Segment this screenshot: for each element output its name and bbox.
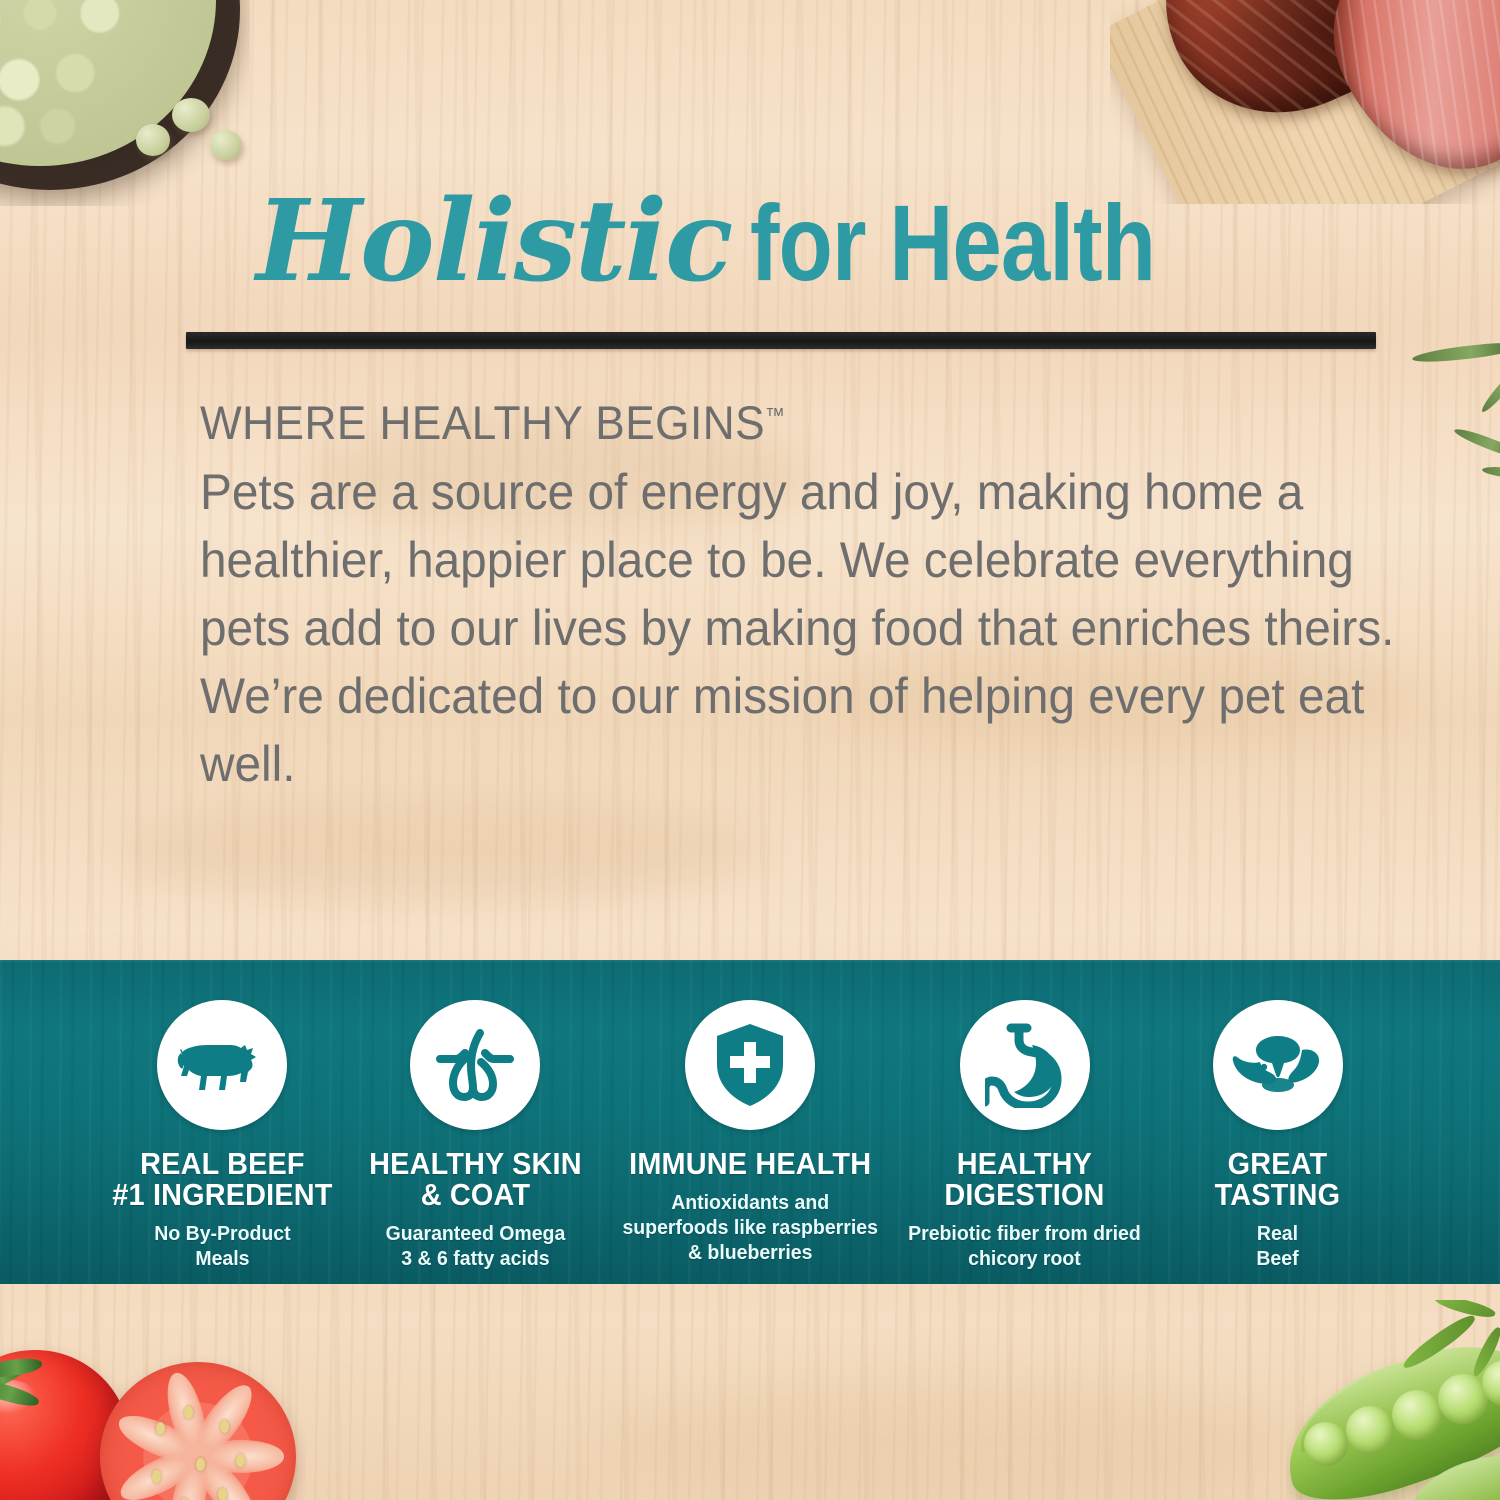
title-divider bbox=[186, 332, 1376, 349]
hair-follicle-icon bbox=[432, 1025, 518, 1105]
benefit-subtitle: Antioxidants and superfoods like raspber… bbox=[609, 1190, 891, 1265]
benefit-icon-circle bbox=[960, 1000, 1090, 1130]
benefit-healthy-digestion: HEALTHY DIGESTION Prebiotic fiber from d… bbox=[898, 1000, 1151, 1271]
tomatoes-photo bbox=[0, 1322, 306, 1500]
benefit-title: REAL BEEF #1 INGREDIENT bbox=[105, 1148, 340, 1210]
page-title: Holistic for Health bbox=[0, 176, 1500, 307]
benefit-subtitle: Prebiotic fiber from dried chicory root bbox=[905, 1221, 1145, 1271]
benefit-icon-circle bbox=[157, 1000, 287, 1130]
benefit-healthy-skin-coat: HEALTHY SKIN & COAT Guaranteed Omega 3 &… bbox=[349, 1000, 602, 1271]
benefit-immune-health: IMMUNE HEALTH Antioxidants and superfood… bbox=[602, 1000, 898, 1265]
title-block-word: for Health bbox=[750, 180, 1155, 305]
intro-copy: WHERE HEALTHY BEGINS™ Pets are a source … bbox=[200, 398, 1460, 798]
benefit-icon-circle bbox=[410, 1000, 540, 1130]
benefit-subtitle: Guaranteed Omega 3 & 6 fatty acids bbox=[355, 1221, 595, 1271]
open-pea-pod-photo bbox=[1286, 1300, 1500, 1500]
benefit-subtitle: No By-Product Meals bbox=[102, 1221, 342, 1271]
benefit-subtitle: Real Beef bbox=[1157, 1221, 1397, 1271]
shield-plus-icon bbox=[711, 1022, 789, 1108]
seared-beef-on-wooden-board-photo bbox=[1110, 0, 1500, 204]
benefit-icon-circle bbox=[1213, 1000, 1343, 1130]
copy-kicker: WHERE HEALTHY BEGINS™ bbox=[200, 398, 1384, 448]
halved-tomato bbox=[100, 1362, 296, 1500]
title-script-word: Holistic bbox=[256, 176, 731, 307]
benefit-title: IMMUNE HEALTH bbox=[612, 1148, 888, 1179]
promo-banner: Holistic for Health WHERE HEALTHY BEGINS… bbox=[0, 0, 1500, 1500]
benefit-great-tasting: GREAT TASTING Real Beef bbox=[1151, 1000, 1404, 1271]
copy-paragraph: Pets are a source of energy and joy, mak… bbox=[200, 458, 1403, 798]
benefit-real-beef: REAL BEEF #1 INGREDIENT No By-Product Me… bbox=[96, 1000, 349, 1271]
benefit-title: HEALTHY DIGESTION bbox=[907, 1148, 1142, 1210]
stomach-icon bbox=[985, 1022, 1065, 1108]
benefits-band: REAL BEEF #1 INGREDIENT No By-Product Me… bbox=[0, 960, 1500, 1284]
benefits-row: REAL BEEF #1 INGREDIENT No By-Product Me… bbox=[0, 960, 1500, 1284]
trademark-symbol: ™ bbox=[765, 404, 785, 427]
benefit-icon-circle bbox=[685, 1000, 815, 1130]
copy-kicker-text: WHERE HEALTHY BEGINS bbox=[200, 396, 765, 449]
cow-icon bbox=[176, 1034, 268, 1096]
benefit-title: HEALTHY SKIN & COAT bbox=[358, 1148, 593, 1210]
benefit-title: GREAT TASTING bbox=[1160, 1148, 1395, 1210]
dog-face-icon bbox=[1230, 1032, 1326, 1098]
